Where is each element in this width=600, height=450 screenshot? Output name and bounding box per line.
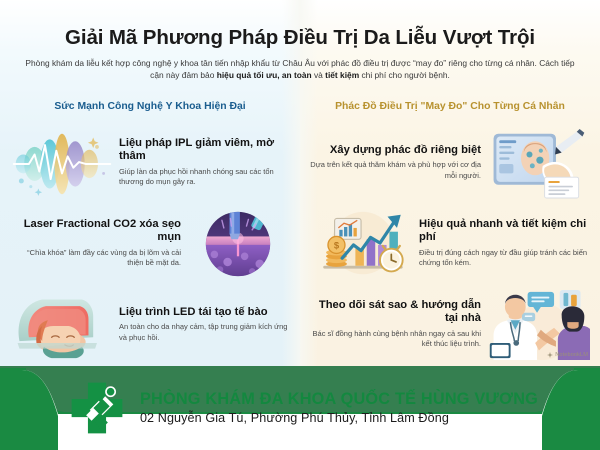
feature-columns: Liệu pháp IPL giảm viêm, mờ thâmGiúp làn…	[0, 122, 600, 366]
ipl-waveform-illustration	[10, 126, 114, 200]
clinic-name: PHÒNG KHÁM ĐA KHOA QUỐC TẾ HÙNG VƯƠNG	[140, 391, 538, 409]
feature-item-description: Dựa trên kết quả thăm khám và phù hợp vớ…	[310, 160, 481, 181]
fractional-co2-laser-skin-illustration	[186, 207, 290, 281]
column-heading-technology: Sức Mạnh Công Nghệ Y Khoa Hiện Đại	[0, 101, 300, 112]
led-light-therapy-mask-illustration	[10, 288, 114, 362]
feature-item-description: An toàn cho da nhạy cảm, tập trung giảm …	[119, 322, 290, 343]
feature-item: Xây dựng phác đồ riêng biệtDựa trên kết …	[300, 122, 600, 203]
feature-item-title: Theo dõi sát sao & hướng dẫn tại nhà	[310, 299, 481, 325]
feature-column-technology: Liệu pháp IPL giảm viêm, mờ thâmGiúp làn…	[0, 122, 300, 366]
feature-column-treatment-plan: Xây dựng phác đồ riêng biệtDựa trên kết …	[300, 122, 600, 366]
feature-item-text: Liệu trình LED tái tạo tế bàoAn toàn cho…	[119, 306, 290, 344]
watermark: NotebookLM	[547, 352, 588, 358]
feature-item: Laser Fractional CO2 xóa sẹo mụn“Chìa kh…	[0, 203, 300, 284]
feature-item-title: Hiệu quả nhanh và tiết kiệm chi phí	[419, 218, 590, 244]
column-heading-treatment-plan: Phác Đồ Điều Trị "May Đo" Cho Từng Cá Nh…	[300, 101, 600, 112]
page-title: Giải Mã Phương Pháp Điều Trị Da Liễu Vượ…	[22, 26, 578, 50]
feature-item-title: Liệu pháp IPL giảm viêm, mờ thâm	[119, 137, 290, 163]
feature-item-text: Hiệu quả nhanh và tiết kiệm chi phíĐiều …	[419, 218, 590, 269]
feature-item-description: Giúp làn da phục hồi nhanh chóng sau các…	[119, 167, 290, 188]
feature-item-text: Xây dựng phác đồ riêng biệtDựa trên kết …	[310, 144, 481, 182]
feature-item-description: Điều trị đúng cách ngay từ đầu giúp trán…	[419, 248, 590, 269]
svg-text:$: $	[334, 240, 340, 251]
growth-chart-savings-illustration: $	[310, 207, 414, 281]
footer: PHÒNG KHÁM ĐA KHOA QUỐC TẾ HÙNG VƯƠNG 02…	[0, 366, 600, 450]
sparkle-icon	[547, 352, 553, 358]
feature-item: $ Hiệu quả nhanh và tiết kiệm chi phíĐiề…	[300, 203, 600, 284]
doctor-patient-consultation-illustration	[486, 288, 590, 362]
growth-chart-savings-illustration: $	[310, 207, 414, 281]
tablet-treatment-plan-illustration	[486, 126, 590, 200]
footer-content: PHÒNG KHÁM ĐA KHOA QUỐC TẾ HÙNG VƯƠNG 02…	[0, 374, 600, 442]
feature-item: Liệu pháp IPL giảm viêm, mờ thâmGiúp làn…	[0, 122, 300, 203]
led-light-therapy-mask-illustration	[10, 288, 114, 362]
header: Giải Mã Phương Pháp Điều Trị Da Liễu Vượ…	[0, 0, 600, 82]
tablet-treatment-plan-illustration	[486, 126, 590, 200]
green-medical-cross-logo	[68, 379, 126, 437]
clinic-identity: PHÒNG KHÁM ĐA KHOA QUỐC TẾ HÙNG VƯƠNG 02…	[140, 391, 538, 426]
doctor-patient-consultation-illustration	[486, 288, 590, 362]
feature-item-description: “Chìa khóa” làm đầy các vùng da bị lõm v…	[10, 248, 181, 269]
feature-item-text: Laser Fractional CO2 xóa sẹo mụn“Chìa kh…	[10, 218, 181, 269]
fractional-co2-laser-skin-illustration	[186, 207, 290, 281]
clinic-address: 02 Nguyễn Gia Tú, Phường Phú Thủy, Tỉnh …	[140, 411, 538, 425]
feature-item-title: Liệu trình LED tái tạo tế bào	[119, 306, 290, 319]
page-subtitle: Phòng khám da liễu kết hợp công nghệ y k…	[22, 57, 578, 82]
feature-item-description: Bác sĩ đồng hành cùng bệnh nhân ngay cả …	[310, 329, 481, 350]
feature-item-title: Laser Fractional CO2 xóa sẹo mụn	[10, 218, 181, 244]
watermark-label: NotebookLM	[555, 352, 588, 358]
feature-item: Liệu trình LED tái tạo tế bàoAn toàn cho…	[0, 284, 300, 365]
feature-item-text: Liệu pháp IPL giảm viêm, mờ thâmGiúp làn…	[119, 137, 290, 188]
feature-item-title: Xây dựng phác đồ riêng biệt	[310, 144, 481, 157]
ipl-waveform-illustration	[10, 126, 114, 200]
feature-item-text: Theo dõi sát sao & hướng dẫn tại nhàBác …	[310, 299, 481, 350]
